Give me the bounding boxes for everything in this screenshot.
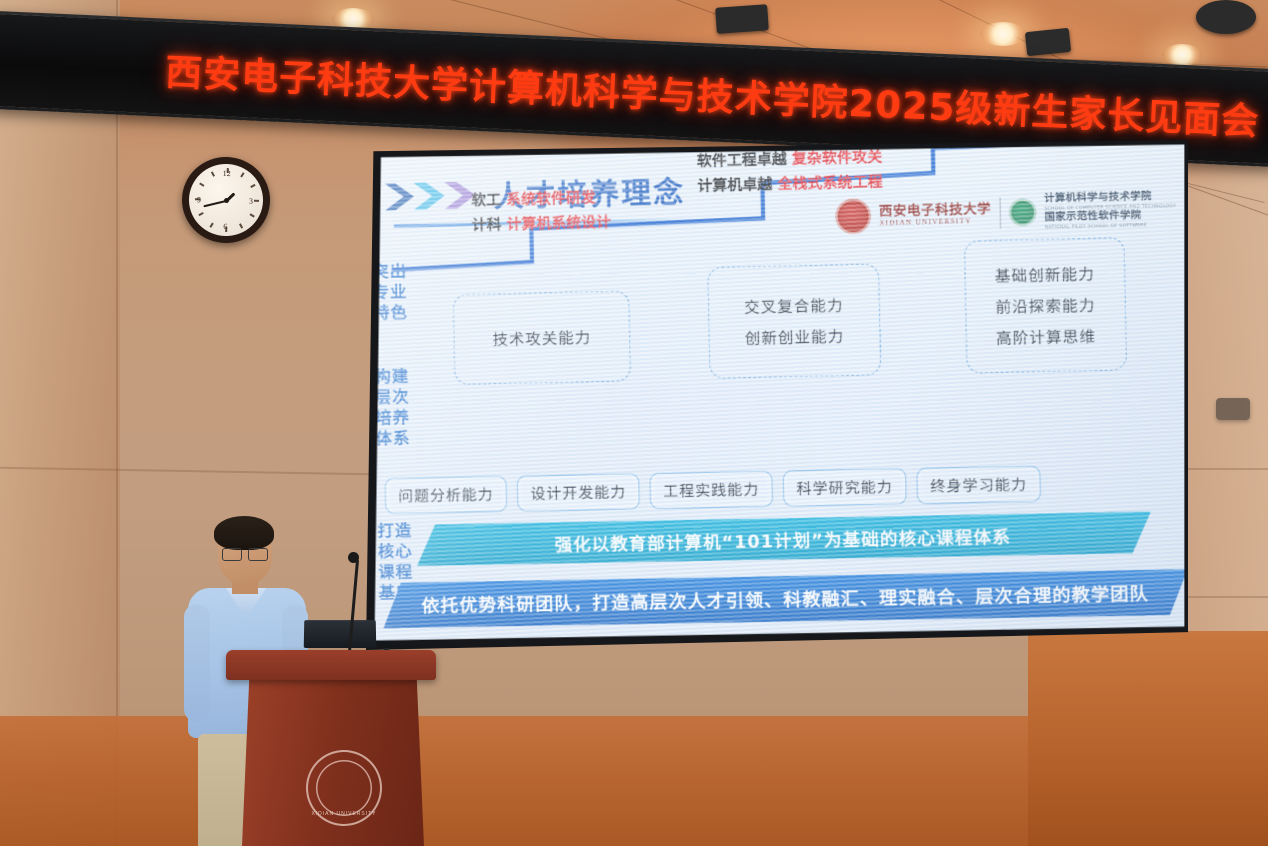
clock-center-pin — [223, 197, 228, 202]
step-2-key-2: 计算机卓越 — [697, 177, 772, 195]
ceiling-light — [1162, 44, 1202, 66]
ability-pill: 问题分析能力 — [385, 476, 508, 514]
xidian-seal-icon — [835, 198, 871, 234]
capability-item: 创新创业能力 — [745, 325, 845, 349]
projection-screen: 人才培养理念 西安电子科技大学 XIDIAN UNIVERSITY 计算机科学与… — [375, 144, 1185, 643]
glasses-icon — [222, 548, 268, 559]
clock-tick — [198, 212, 203, 216]
stage-spotlight — [715, 4, 769, 34]
podium: XIDIAN UNIVERSITY — [232, 650, 430, 846]
chevron-right-icon — [383, 179, 482, 212]
clock-face: 12 3 6 9 — [188, 163, 264, 237]
clock-tick — [254, 200, 259, 202]
podium-body: XIDIAN UNIVERSITY — [242, 678, 424, 846]
presenter-hair — [214, 516, 274, 550]
clock-tick — [239, 223, 243, 228]
sidebar-item-tier-2: 构建 层次 培养 体系 — [375, 366, 417, 449]
ceiling-fan-mount — [1196, 0, 1256, 34]
clock-tick — [211, 171, 215, 176]
institution-logos: 西安电子科技大学 XIDIAN UNIVERSITY 计算机科学与技术学院 SC… — [835, 190, 1177, 235]
emblem-inner-ring — [316, 760, 372, 816]
step-1-value-1: 系统软件研发 — [506, 190, 596, 209]
university-name: 西安电子科技大学 XIDIAN UNIVERSITY — [879, 202, 992, 227]
step-2-key-1: 软件工程卓越 — [697, 152, 787, 171]
clock-tick — [240, 172, 244, 177]
floor-right — [1028, 631, 1268, 846]
step-2-value-2: 全栈式系统工程 — [777, 174, 883, 193]
capability-item: 技术攻关能力 — [492, 326, 591, 350]
laptop — [300, 620, 380, 654]
capability-box-2: 交叉复合能力 创新创业能力 — [707, 263, 881, 378]
university-name-cn: 西安电子科技大学 — [879, 202, 992, 219]
clock-tick — [250, 184, 255, 188]
laptop-screen — [304, 620, 377, 648]
ability-pill-row: 问题分析能力 设计开发能力 工程实践能力 科学研究能力 终身学习能力 — [385, 466, 1041, 514]
ability-pill: 工程实践能力 — [649, 471, 773, 509]
presentation-slide: 人才培养理念 西安电子科技大学 XIDIAN UNIVERSITY 计算机科学与… — [375, 144, 1185, 643]
teaching-team-banner: 依托优势科研团队，打造高层次人才引领、科教融汇、理实融合、层次合理的教学团队 — [383, 569, 1185, 628]
capability-item: 基础创新能力 — [995, 262, 1096, 286]
ability-pill: 设计开发能力 — [517, 473, 640, 511]
ability-pill: 终身学习能力 — [916, 466, 1041, 505]
capability-box-1: 技术攻关能力 — [453, 291, 632, 385]
clock-tick — [249, 213, 254, 217]
wall-bracket — [1216, 398, 1250, 420]
xidian-emblem-icon: XIDIAN UNIVERSITY — [306, 750, 382, 826]
step-1-key-2: 计科 — [472, 217, 502, 234]
clock-tick — [199, 182, 204, 186]
core-course-banner: 强化以教育部计算机“101计划”为基础的核心课程体系 — [416, 511, 1152, 566]
clock-tick — [209, 223, 213, 228]
step-1-key-1: 软工 — [471, 192, 501, 209]
photo-scene: 西安电子科技大学计算机科学与技术学院2025级新生家长见面会 12 3 6 9 — [0, 0, 1268, 846]
capability-item: 交叉复合能力 — [744, 294, 844, 318]
step-text-1: 软工系统软件研发 计科计算机系统设计 — [471, 185, 611, 238]
capability-item: 高阶计算思维 — [996, 325, 1097, 349]
emblem-label: XIDIAN UNIVERSITY — [306, 811, 382, 817]
stage-spotlight — [1025, 28, 1071, 56]
school-name: 计算机科学与技术学院 SCHOOL OF COMPUTER SCIENCE AN… — [1044, 190, 1177, 231]
capability-box-3: 基础创新能力 前沿探索能力 高阶计算思维 — [964, 237, 1127, 373]
school-seal-icon — [1009, 199, 1037, 227]
step-text-2: 软件工程卓越复杂软件攻关 计算机卓越全栈式系统工程 — [697, 144, 883, 198]
clock-minute-hand — [203, 200, 226, 207]
university-name-en: XIDIAN UNIVERSITY — [879, 216, 991, 227]
capability-item: 前沿探索能力 — [995, 293, 1096, 317]
presenter-arm-left — [184, 604, 210, 722]
sidebar-item-tier-1: 突出 专业 特色 — [375, 261, 415, 324]
logo-divider — [999, 197, 1001, 228]
podium-top — [226, 650, 436, 680]
step-2-value-1: 复杂软件攻关 — [792, 149, 883, 168]
ceiling-light — [980, 22, 1026, 46]
ability-pill: 科学研究能力 — [783, 468, 907, 507]
step-1-value-2: 计算机系统设计 — [506, 215, 611, 234]
